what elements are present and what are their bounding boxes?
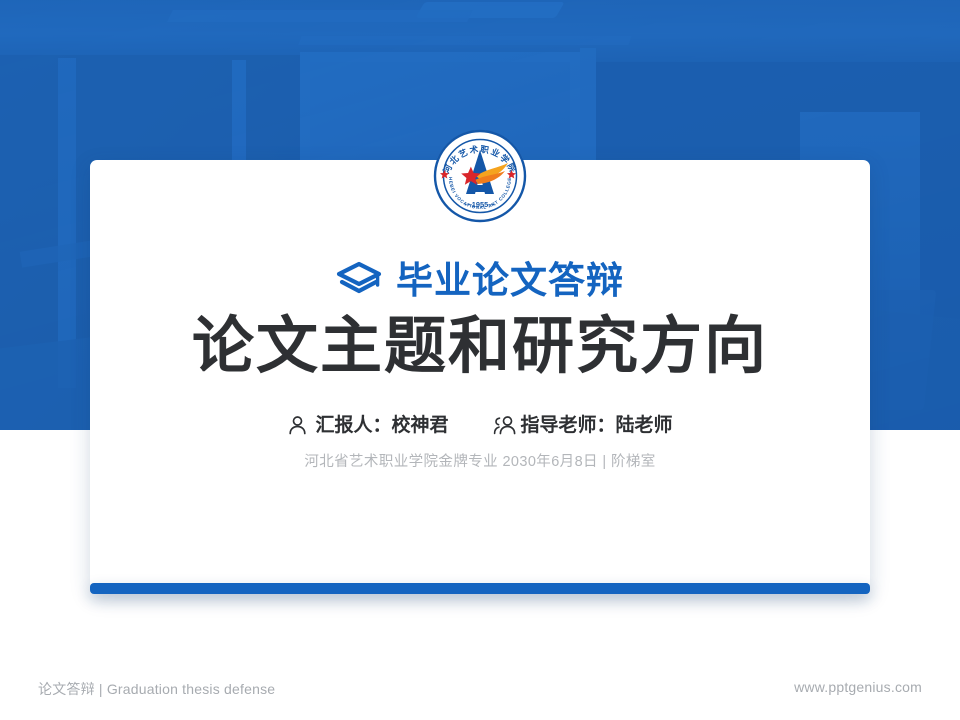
- college-seal-emblem: 河北艺术职业学院 HEBEI VOCATIONAL ART COLLEGE —1…: [432, 128, 528, 224]
- footer-left-text: 论文答辩 | Graduation thesis defense: [38, 679, 275, 699]
- advisor-item: 指导老师：陆老师: [493, 415, 673, 436]
- people-group-icon: [493, 415, 514, 436]
- page-title: 论文主题和研究方向: [192, 314, 768, 381]
- presenter-label: 汇报人：校神君: [315, 416, 448, 435]
- footer-right-url: www.pptgenius.com: [794, 679, 922, 695]
- people-row: 汇报人：校神君 指导老师：陆老师: [287, 415, 672, 436]
- presentation-slide: 河北艺术职业学院 HEBEI VOCATIONAL ART COLLEGE —1…: [0, 0, 960, 720]
- advisor-label: 指导老师：陆老师: [521, 416, 673, 435]
- graduation-cap-icon: [336, 260, 382, 300]
- kicker-row: 毕业论文答辩: [336, 260, 624, 300]
- kicker-label: 毕业论文答辩: [396, 262, 624, 299]
- slide-metadata: 河北省艺术职业学院金牌专业 2030年6月8日 | 阶梯室: [304, 455, 655, 470]
- svg-text:—1955—: —1955—: [464, 200, 496, 209]
- card-content: 毕业论文答辩 论文主题和研究方向 汇报人：校神君: [90, 160, 870, 592]
- presenter-item: 汇报人：校神君: [287, 415, 448, 436]
- person-icon: [287, 415, 308, 436]
